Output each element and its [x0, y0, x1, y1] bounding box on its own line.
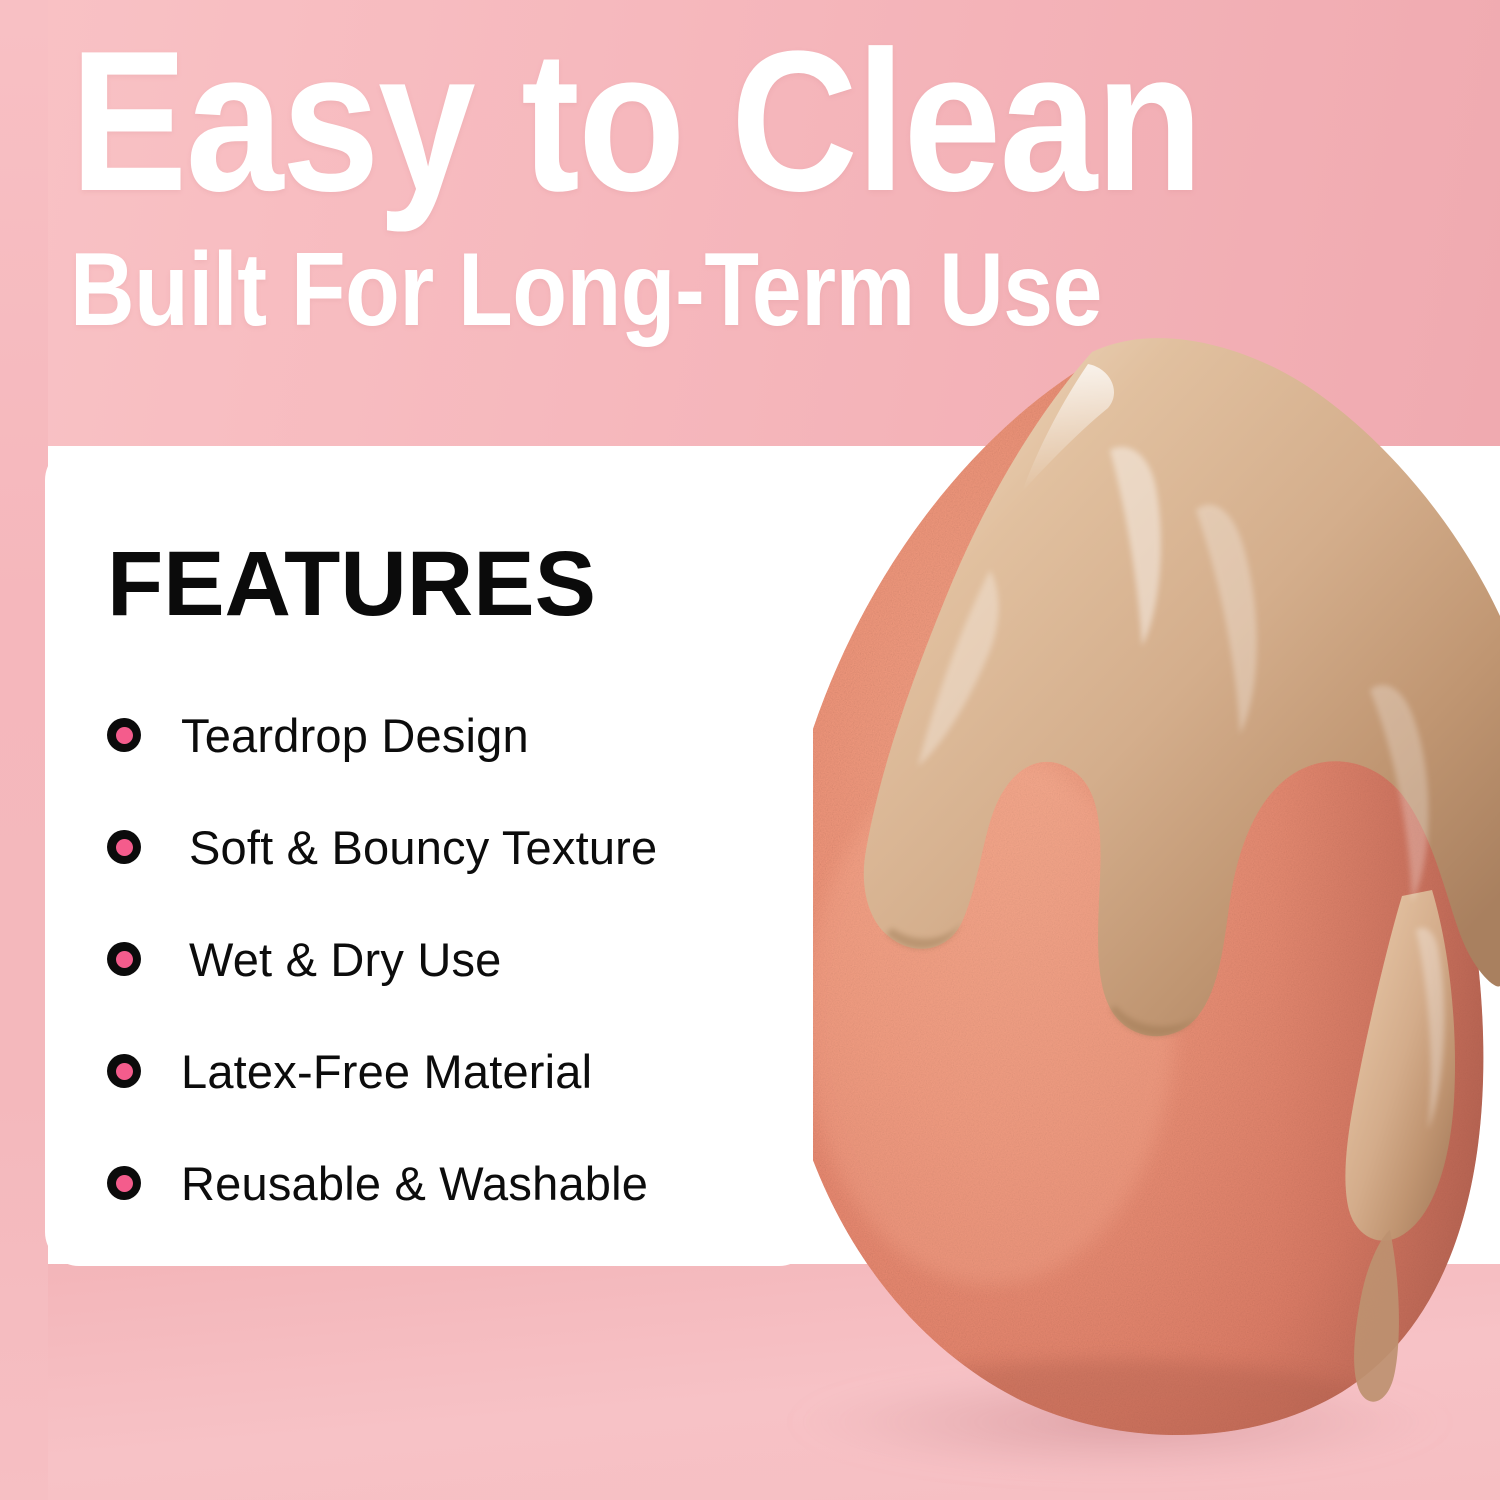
list-item: Reusable & Washable [107, 1156, 813, 1210]
list-item: Latex-Free Material [107, 1044, 813, 1098]
features-card: FEATURES Teardrop Design Soft & Bouncy T… [45, 446, 813, 1266]
feature-label: Teardrop Design [181, 712, 529, 759]
list-item: Wet & Dry Use [107, 932, 813, 986]
list-item: Soft & Bouncy Texture [107, 820, 813, 874]
headline-block: Easy to Clean Built For Long-Term Use [70, 30, 1410, 342]
feature-label: Wet & Dry Use [189, 936, 502, 983]
headline-subtitle: Built For Long-Term Use [70, 238, 1222, 342]
headline-title: Easy to Clean [70, 30, 1249, 214]
bullet-core-icon [116, 839, 133, 856]
bullet-ring-icon [107, 942, 141, 976]
bullet-ring-icon [107, 830, 141, 864]
bullet-core-icon [116, 951, 133, 968]
bullet-core-icon [116, 1063, 133, 1080]
bullet-core-icon [116, 727, 133, 744]
background-pink-left-gutter [0, 0, 48, 1500]
feature-label: Reusable & Washable [181, 1160, 648, 1207]
features-list: Teardrop Design Soft & Bouncy Texture We… [107, 708, 813, 1210]
feature-label: Soft & Bouncy Texture [189, 824, 657, 871]
infographic-stage: Easy to Clean Built For Long-Term Use [0, 0, 1500, 1500]
bullet-core-icon [116, 1175, 133, 1192]
feature-label: Latex-Free Material [181, 1048, 592, 1095]
features-heading: FEATURES [107, 538, 813, 630]
bullet-ring-icon [107, 1054, 141, 1088]
list-item: Teardrop Design [107, 708, 813, 762]
bullet-ring-icon [107, 718, 141, 752]
bullet-ring-icon [107, 1166, 141, 1200]
